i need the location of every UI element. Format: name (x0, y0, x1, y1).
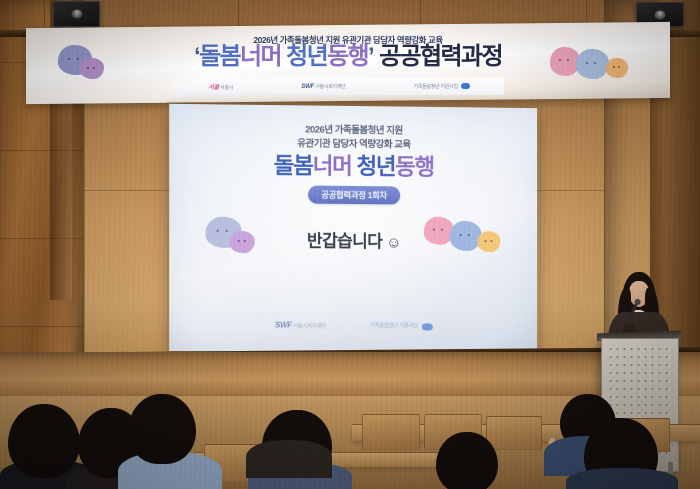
slide-title-blue: 돌봄 (274, 153, 313, 178)
slide-logo-program: 가족돌봄청년 지원사업 (370, 322, 433, 330)
attendee-shoulders (246, 440, 332, 478)
banner-logo-program-badge-icon (461, 83, 470, 89)
slide-logo-swf-name: 서울시복지재단 (293, 324, 326, 330)
slide-logo-program-badge-icon (422, 323, 433, 330)
slide-logo-swf: SWF 서울시복지재단 (275, 320, 326, 329)
projection-screen: 2026년 가족돌봄청년 지원 유관기관 담당자 역량강화 교육 돌봄너머 청년… (169, 104, 537, 353)
seat-back (362, 414, 420, 450)
attendee-head (8, 404, 80, 478)
banner-logo-seoul: 서울 서울시 (208, 82, 233, 91)
banner-logo-strip: 서울 서울시 SWF 서울시복지재단 가족돌봄청년 지원사업 (174, 77, 504, 95)
attendee-head (128, 394, 196, 464)
banner-logo-seoul-mark: 서울 (208, 84, 219, 91)
banner-logo-swf-name: 서울시복지재단 (315, 84, 345, 90)
slide-title-purple-2: 동행 (395, 154, 434, 179)
slide-title-purple: 너머 (313, 154, 352, 179)
banner-title-purple: 너머 (240, 43, 281, 70)
seat-back (486, 416, 542, 450)
banner-title-dark: 공공협력과정 (379, 43, 502, 70)
slide-title: 돌봄너머 청년동행 (169, 154, 537, 180)
slide-greeting: 반갑습니다☺ (169, 225, 537, 253)
attendee-shoulders (566, 468, 678, 489)
attendee-head (436, 432, 498, 489)
banner-logo-program: 가족돌봄청년 지원사업 (414, 83, 470, 90)
slide-subtitle: 2026년 가족돌봄청년 지원 유관기관 담당자 역량강화 교육 (169, 122, 537, 154)
smiley-icon: ☺ (386, 234, 401, 251)
quote-close: ’ (368, 43, 373, 70)
banner-title-blue-2: 청년 (281, 43, 327, 70)
banner-logo-program-name: 가족돌봄청년 지원사업 (414, 84, 458, 90)
slide-title-blue-2: 청년 (352, 154, 396, 179)
slide-greeting-text: 반갑습니다 (307, 232, 382, 252)
banner-main-title: ‘돌봄너머 청년동행’공공협력과정 (26, 45, 670, 69)
slide-session-badge: 공공협력과정 1회차 (308, 186, 400, 205)
banner-title-purple-2: 동행 (327, 43, 368, 70)
slide-logo-program-name: 가족돌봄청년 지원사업 (370, 324, 418, 330)
banner-logo-seoul-name: 서울시 (220, 85, 233, 91)
event-banner: 2026년 가족돌봄청년 지원 유관기관 담당자 역량강화 교육 ‘돌봄너머 청… (26, 22, 670, 104)
banner-title-blue: 돌봄 (199, 43, 240, 70)
banner-logo-swf: SWF 서울시복지재단 (301, 83, 345, 90)
ceiling-seam (44, 0, 45, 31)
lecture-hall-photo: 2026년 가족돌봄청년 지원 유관기관 담당자 역량강화 교육 ‘돌봄너머 청… (0, 0, 700, 489)
banner-logo-swf-mark: SWF (301, 83, 314, 90)
slide-subtitle-line2: 유관기관 담당자 역량강화 교육 (169, 136, 537, 154)
slide-logo-strip: SWF 서울시복지재단 가족돌봄청년 지원사업 (169, 320, 537, 331)
ceiling-speaker-icon (53, 1, 100, 27)
slide-logo-swf-mark: SWF (275, 320, 292, 329)
